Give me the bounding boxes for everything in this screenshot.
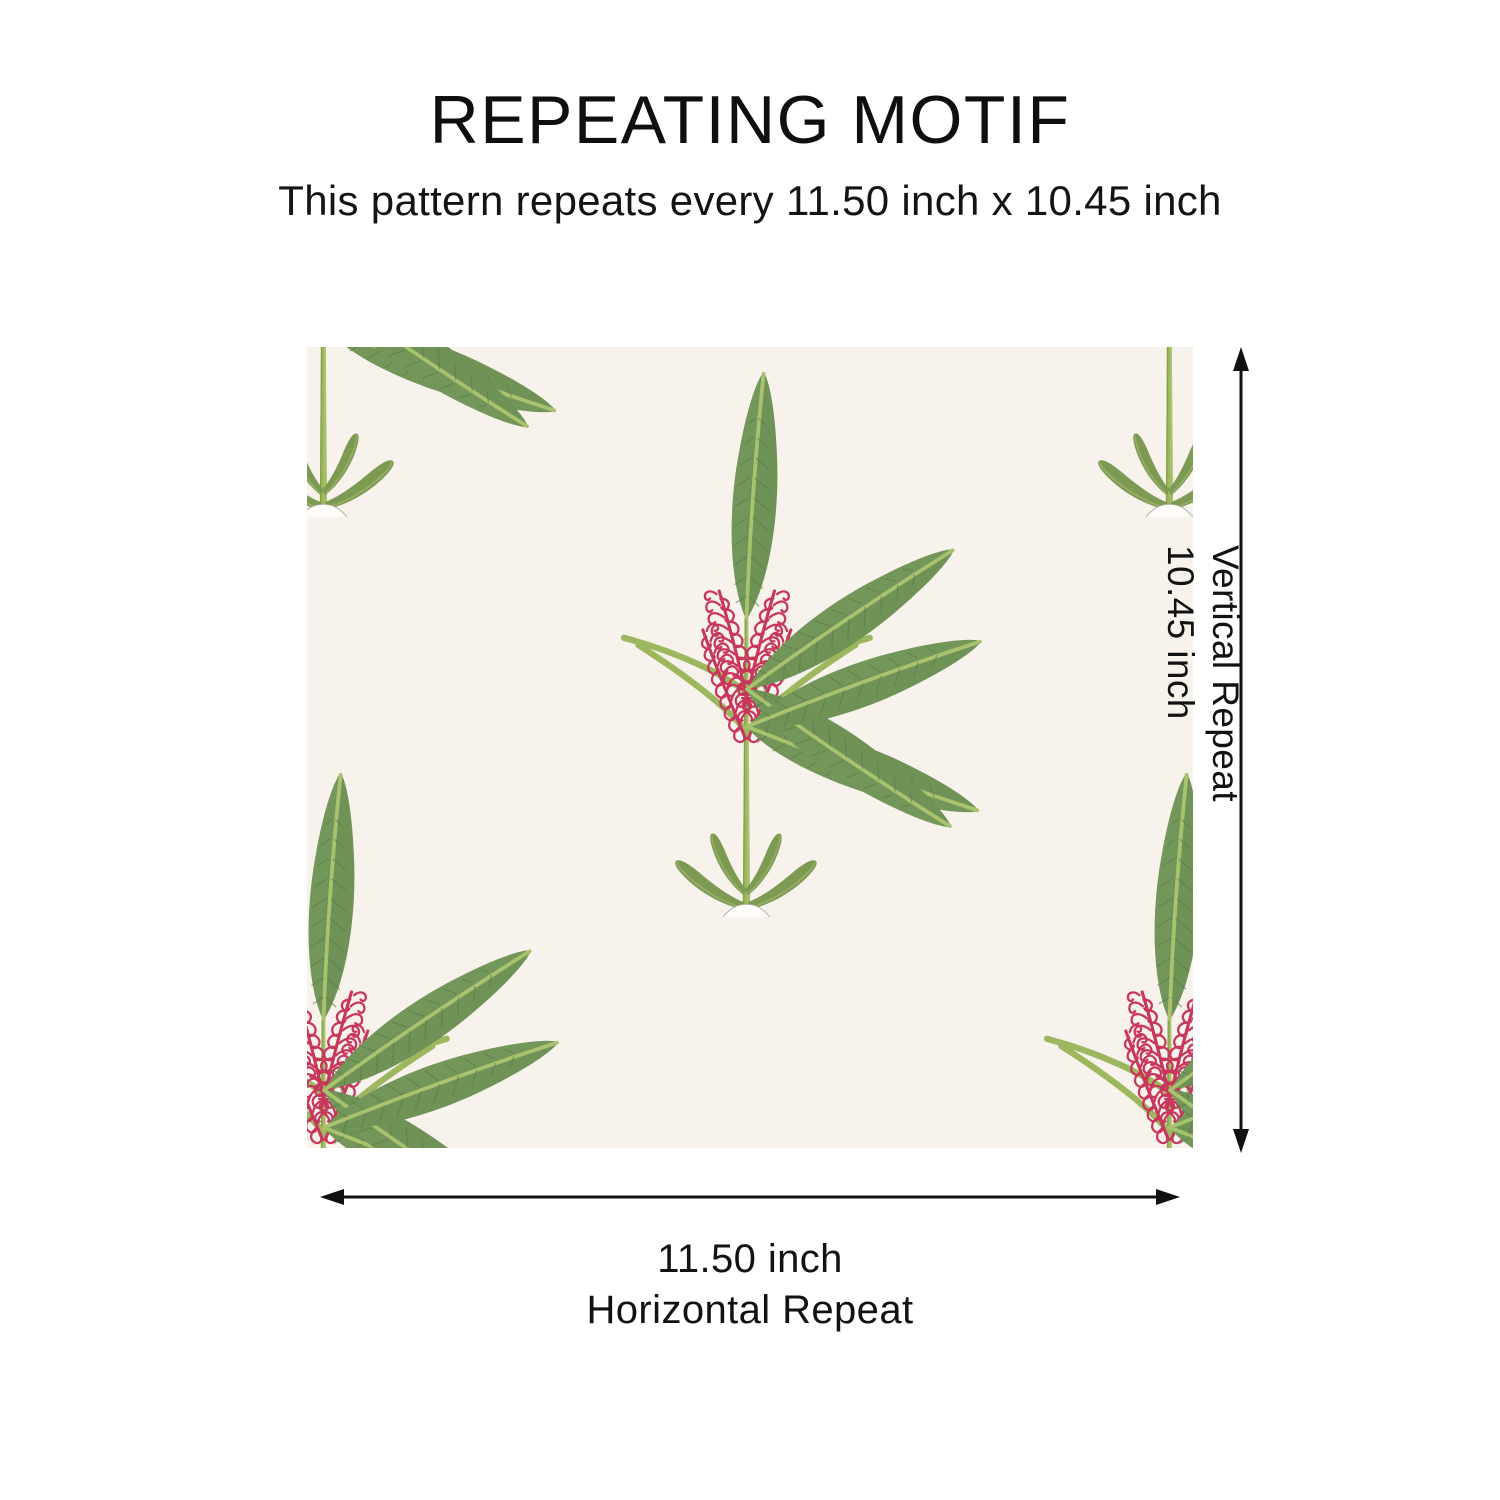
vertical-repeat-title: Vertical Repeat <box>1203 545 1248 965</box>
horizontal-repeat-title: Horizontal Repeat <box>300 1285 1200 1336</box>
horizontal-dimension-arrow <box>300 1172 1200 1222</box>
page-subtitle: This pattern repeats every 11.50 inch x … <box>0 154 1500 222</box>
arrow-head-right <box>1156 1189 1180 1205</box>
horizontal-repeat-value: 11.50 inch <box>300 1234 1200 1285</box>
page-title: REPEATING MOTIF <box>0 0 1500 154</box>
pattern-tile <box>307 347 1193 1148</box>
arrow-head-left <box>320 1189 344 1205</box>
botanical-plant-motif-illustration <box>307 347 1193 1148</box>
vertical-dimension-label: Vertical Repeat 10.45 inch <box>1128 545 1248 965</box>
horizontal-dimension-label: 11.50 inch Horizontal Repeat <box>300 1234 1200 1336</box>
horizontal-dimension <box>300 1172 1200 1222</box>
arrow-head-down <box>1233 1129 1249 1153</box>
arrow-head-up <box>1233 347 1249 371</box>
header: REPEATING MOTIF This pattern repeats eve… <box>0 0 1500 222</box>
repeat-swatch-area <box>307 347 1193 1148</box>
vertical-repeat-value: 10.45 inch <box>1158 545 1203 965</box>
